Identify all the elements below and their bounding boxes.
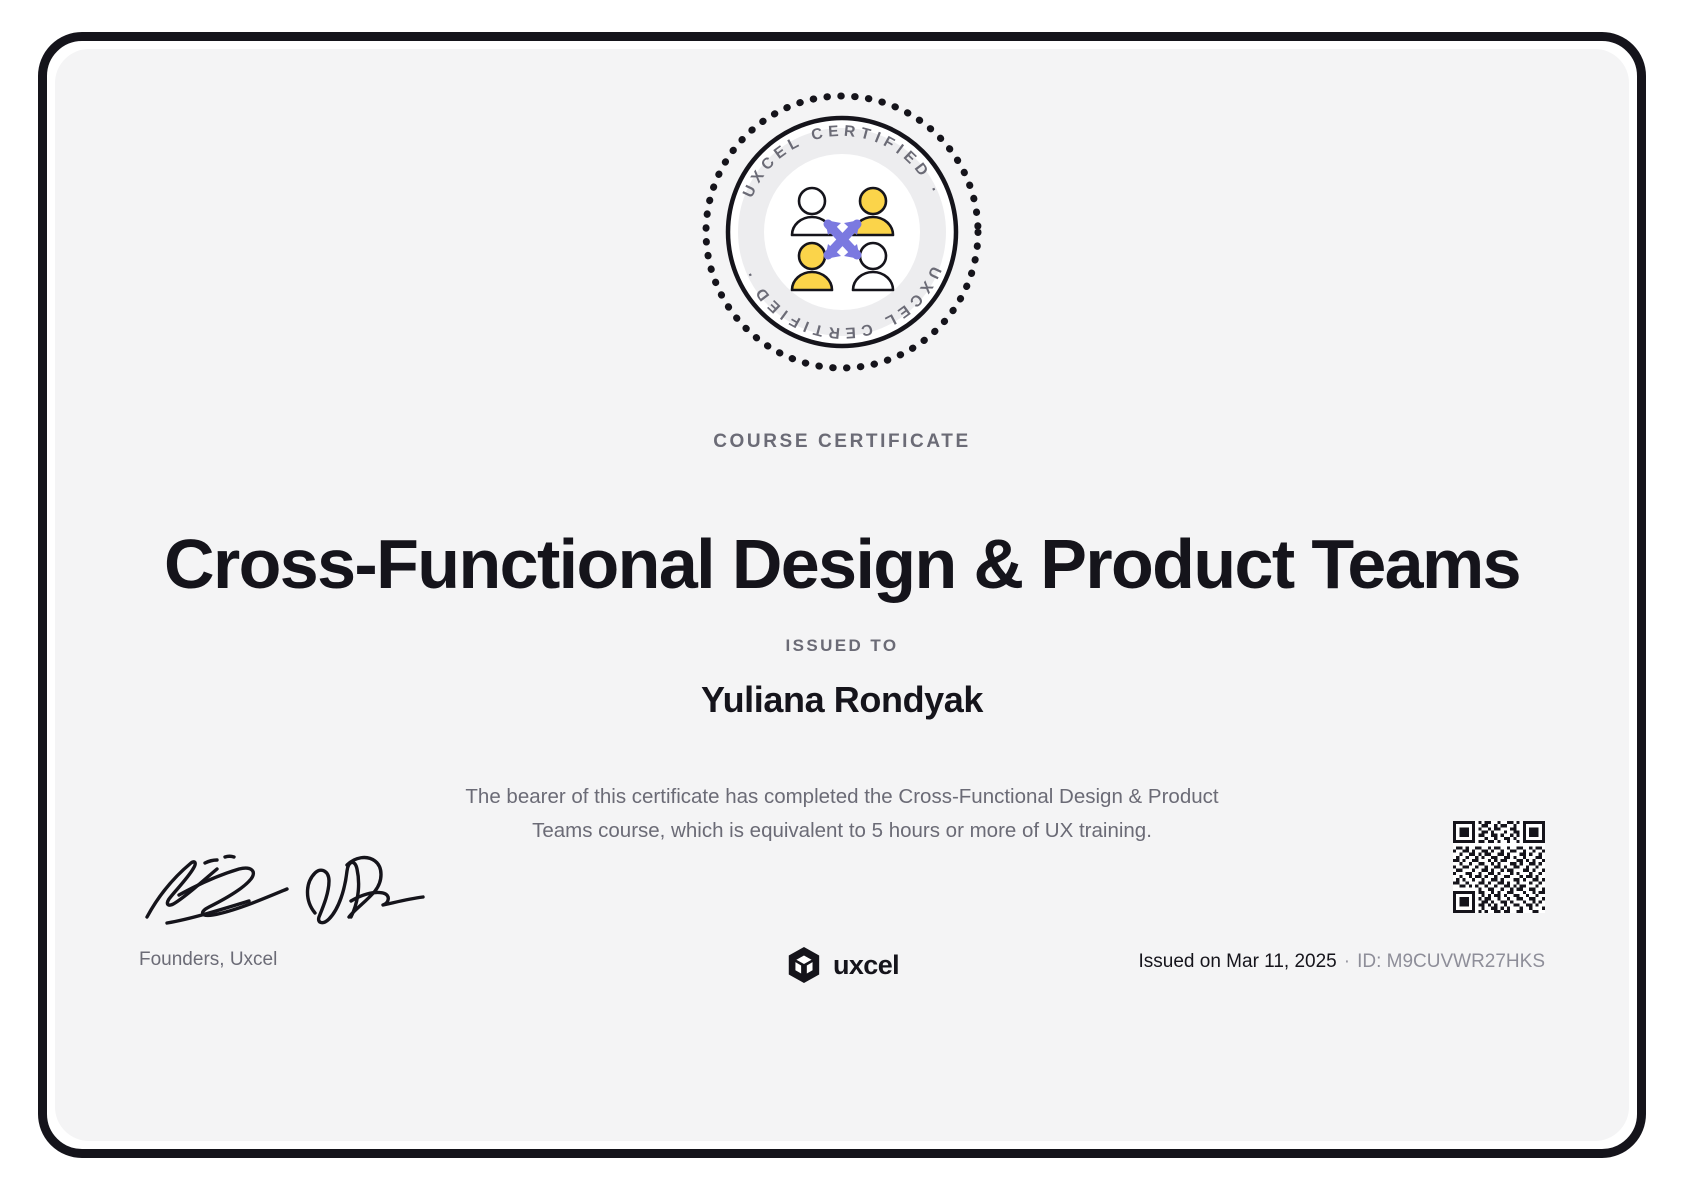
certification-badge: UXCEL CERTIFIED · UXCEL CERTIFIED · (697, 87, 987, 377)
issue-metadata: Issued on Mar 11, 2025·ID: M9CUVWR27HKS (1139, 951, 1545, 973)
certificate-panel: UXCEL CERTIFIED · UXCEL CERTIFIED · (55, 49, 1629, 1141)
certificate-title: Cross-Functional Design & Product Teams (55, 528, 1629, 602)
certificate-description: The bearer of this certificate has compl… (447, 780, 1237, 848)
uxcel-brand: uxcel (785, 946, 899, 984)
verification-qr-code[interactable] (1453, 821, 1545, 913)
qr-code-icon (1453, 821, 1545, 913)
certificate-eyebrow: COURSE CERTIFICATE (55, 431, 1629, 453)
recipient-name: Yuliana Rondyak (55, 679, 1629, 721)
badge-inner-circle (764, 154, 920, 310)
certificate-frame: UXCEL CERTIFIED · UXCEL CERTIFIED · (38, 32, 1646, 1158)
certificate-id: ID: M9CUVWR27HKS (1357, 951, 1545, 972)
badge-seal-icon: UXCEL CERTIFIED · UXCEL CERTIFIED · (697, 87, 987, 377)
founders-label: Founders, Uxcel (139, 949, 277, 971)
issued-on-date: Issued on Mar 11, 2025 (1139, 951, 1337, 972)
uxcel-wordmark: uxcel (833, 950, 899, 981)
metadata-separator: · (1344, 951, 1350, 972)
signature-icon (139, 839, 439, 929)
certificate-page: UXCEL CERTIFIED · UXCEL CERTIFIED · (0, 0, 1684, 1190)
founder-signatures (139, 839, 439, 929)
uxcel-hexagon-logo-icon (785, 946, 823, 984)
issued-to-label: ISSUED TO (55, 636, 1629, 656)
